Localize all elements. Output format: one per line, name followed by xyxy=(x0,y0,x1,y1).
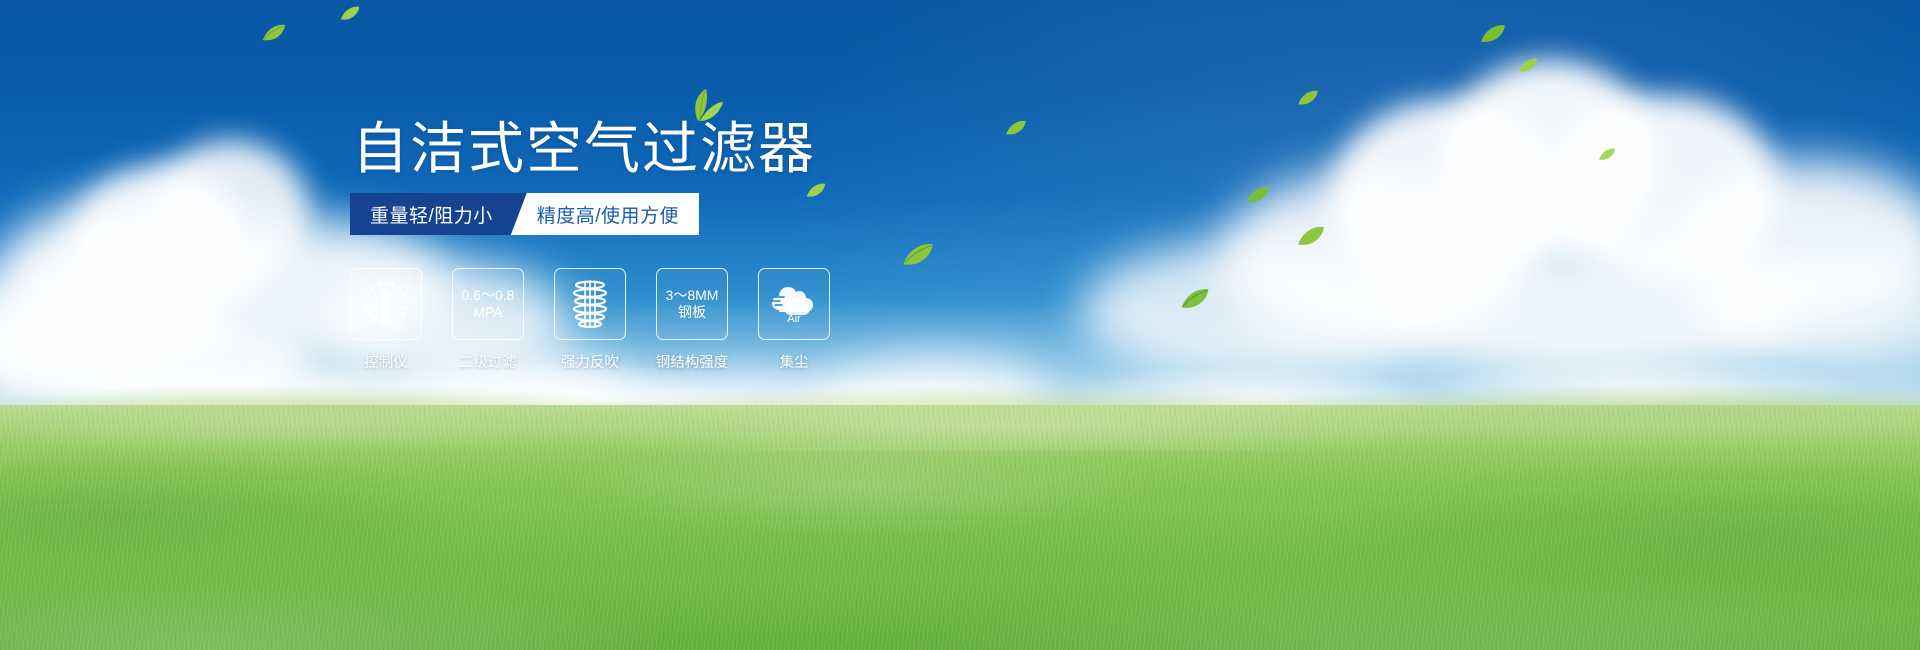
pressure-line-1: 0.6〜0.8 xyxy=(462,287,515,305)
feature-box-secondary-filtration: 0.6〜0.8 MPA xyxy=(452,268,524,340)
svg-text:OFF: OFF xyxy=(392,322,405,329)
title-leaf-icon xyxy=(676,88,724,122)
feature-label-dust-collection: 集尘 xyxy=(780,351,809,372)
steel-plate-text-icon: 3〜8MM 钢板 xyxy=(666,287,719,322)
feature-item-strong-blowback[interactable]: 强力反吹 xyxy=(554,268,626,372)
feature-box-dust-collection: Air xyxy=(758,268,830,340)
feature-item-control-instrument[interactable]: NO OFF 控制仪 xyxy=(350,268,422,372)
pressure-text-icon: 0.6〜0.8 MPA xyxy=(462,287,515,322)
control-dial-icon: NO OFF xyxy=(357,275,415,333)
feature-box-strong-blowback xyxy=(554,268,626,340)
feature-row: NO OFF 控制仪 0.6〜0.8 MPA 二级过滤 xyxy=(350,268,830,372)
page-title: 自洁式空气过滤器 xyxy=(352,118,816,180)
tag-precision-convenience[interactable]: 精度高/使用方便 xyxy=(511,193,699,235)
feature-item-steel-structure-strength[interactable]: 3〜8MM 钢板 钢结构强度 xyxy=(656,268,728,372)
steel-line-1: 3〜8MM xyxy=(666,287,719,305)
svg-text:Air: Air xyxy=(787,313,801,325)
feature-item-dust-collection[interactable]: Air 集尘 xyxy=(758,268,830,372)
feature-box-steel-structure-strength: 3〜8MM 钢板 xyxy=(656,268,728,340)
feature-label-strong-blowback: 强力反吹 xyxy=(561,351,619,372)
tag-row: 重量轻/阻力小 精度高/使用方便 xyxy=(350,193,699,235)
svg-text:NO: NO xyxy=(364,306,375,313)
blowback-coil-icon xyxy=(565,277,615,331)
steel-line-2: 钢板 xyxy=(666,304,719,322)
feature-label-control-instrument: 控制仪 xyxy=(364,351,408,372)
feature-box-control-instrument: NO OFF xyxy=(350,268,422,340)
air-cloud-icon: Air xyxy=(766,280,822,328)
hero-banner: 自洁式空气过滤器 重量轻/阻力小 精度高/使用方便 xyxy=(0,0,1920,650)
banner-content: 自洁式空气过滤器 重量轻/阻力小 精度高/使用方便 xyxy=(0,0,1920,650)
pressure-line-2: MPA xyxy=(462,304,515,322)
feature-label-steel-structure-strength: 钢结构强度 xyxy=(656,351,729,372)
tag-weight-resistance[interactable]: 重量轻/阻力小 xyxy=(350,193,527,235)
feature-item-secondary-filtration[interactable]: 0.6〜0.8 MPA 二级过滤 xyxy=(452,268,524,372)
feature-label-secondary-filtration: 二级过滤 xyxy=(459,351,517,372)
